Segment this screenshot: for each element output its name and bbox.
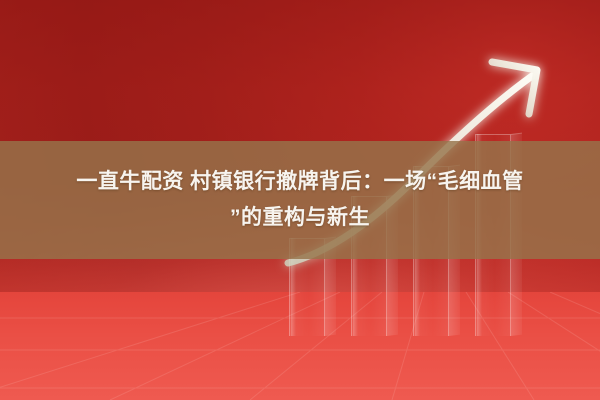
caption-line-1: 一直牛配资 村镇银行撤牌背后：一场“毛细血管 — [76, 170, 523, 193]
caption-text: 一直牛配资 村镇银行撤牌背后：一场“毛细血管 ”的重构与新生 — [20, 164, 580, 236]
caption-overlay-band: 一直牛配资 村镇银行撤牌背后：一场“毛细血管 ”的重构与新生 — [0, 141, 600, 259]
caption-line-2: ”的重构与新生 — [230, 206, 370, 229]
cover-image-canvas: 一直牛配资 村镇银行撤牌背后：一场“毛细血管 ”的重构与新生 — [0, 0, 600, 400]
